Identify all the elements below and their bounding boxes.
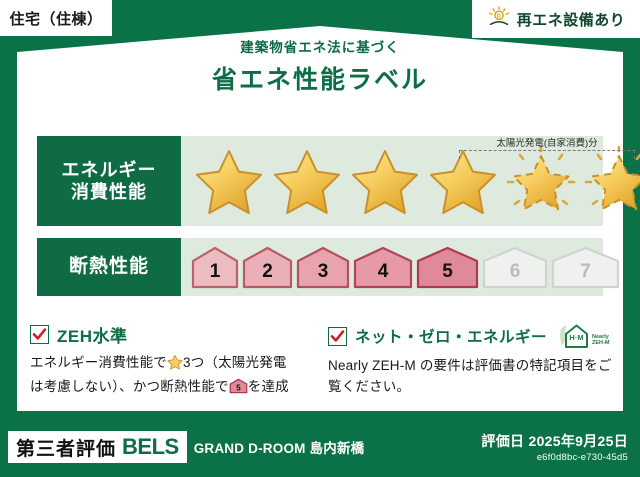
star-icon xyxy=(167,354,183,377)
grade-step-3: 3 xyxy=(296,245,350,289)
check-icon xyxy=(32,327,47,342)
zeh-body-part1: エネルギー消費性能で xyxy=(30,355,167,370)
energy-performance-label: エネルギー 消費性能 xyxy=(37,136,181,226)
insulation-grade-scale: 1 2 3 4 xyxy=(181,245,620,289)
net-zero-energy-heading: ネット・ゼロ・エネルギー H·M Nearly ZEH-M xyxy=(328,322,614,350)
energy-rating-area: 太陽光発電(自家消費)分 xyxy=(181,136,640,226)
energy-performance-row: エネルギー 消費性能 xyxy=(37,136,603,226)
building-type-text: 住宅（住棟） xyxy=(9,8,102,29)
svg-text:H·M: H·M xyxy=(569,333,583,342)
net-zero-energy-body: Nearly ZEH-M の要件は評価書の特記項目をご覧ください。 xyxy=(328,356,614,398)
renewable-energy-badge: D 再エネ設備あり xyxy=(472,0,640,38)
grade-value: 4 xyxy=(378,261,389,289)
grade-step-1: 1 xyxy=(191,245,239,289)
zeh-standard-body: エネルギー消費性能で 3つ（太陽光発電 は考慮しない）、かつ断熱性能で 5 を達… xyxy=(30,353,320,401)
star-icon xyxy=(271,146,343,216)
grade-step-5: 5 xyxy=(416,245,479,289)
svg-text:D: D xyxy=(497,14,501,20)
grade-value: 2 xyxy=(262,261,273,289)
zeh-standard-block: ZEH水準 エネルギー消費性能で 3つ（太陽光発電 は考慮しない）、かつ断熱性能… xyxy=(30,322,320,401)
zeh-standard-title: ZEH水準 xyxy=(57,322,128,347)
star-icon xyxy=(193,146,265,216)
zeh-standard-checkbox[interactable] xyxy=(30,325,49,344)
star-solar-icon xyxy=(583,146,640,216)
insulation-performance-row: 断熱性能 1 2 xyxy=(37,238,603,296)
grade-step-2: 2 xyxy=(242,245,293,289)
zeh-body-part4: を達成 xyxy=(248,379,289,394)
bels-en-text: BELS xyxy=(122,434,179,460)
grade-value: 5 xyxy=(442,261,453,289)
grade-value: 3 xyxy=(318,261,329,289)
net-zero-energy-checkbox[interactable] xyxy=(328,327,347,346)
star-icon xyxy=(349,146,421,216)
energy-performance-label: 住宅（住棟） D 再エネ設備あり 建築物省エネ法に基づく 省エネ性能ラベル xyxy=(0,0,640,477)
grade-step-4: 4 xyxy=(353,245,413,289)
evaluation-id: e6f0d8bc-e730-45d5 xyxy=(481,452,628,463)
property-name: GRAND D-ROOM 島内新橋 xyxy=(194,437,365,457)
grade-step-7: 7 xyxy=(551,245,620,289)
check-icon xyxy=(330,329,345,344)
label-title: 省エネ性能ラベル xyxy=(0,60,640,96)
grade-step-6: 6 xyxy=(482,245,548,289)
zeh-standard-heading: ZEH水準 xyxy=(30,322,320,347)
net-zero-energy-title: ネット・ゼロ・エネルギー xyxy=(355,325,547,347)
evaluation-date: 評価日 2025年9月25日 xyxy=(481,431,628,451)
sun-icon: D xyxy=(487,6,511,32)
star-rating xyxy=(181,146,640,216)
insulation-performance-label: 断熱性能 xyxy=(37,238,181,296)
building-type-tag: 住宅（住棟） xyxy=(0,0,112,36)
footer-bar: 第三者評価 BELS GRAND D-ROOM 島内新橋 評価日 2025年9月… xyxy=(0,417,640,477)
grade-value: 1 xyxy=(210,261,221,289)
insulation-rating-area: 1 2 3 4 xyxy=(181,238,620,296)
label-subtitle: 建築物省エネ法に基づく xyxy=(0,36,640,56)
star-solar-icon xyxy=(505,146,577,216)
renewable-badge-text: 再エネ設備あり xyxy=(517,9,626,30)
insulation-label-text: 断熱性能 xyxy=(69,255,149,279)
grade-value: 7 xyxy=(580,261,591,289)
title-block: 建築物省エネ法に基づく 省エネ性能ラベル xyxy=(0,36,640,96)
bels-badge: 第三者評価 BELS xyxy=(8,431,187,463)
energy-label-line1: エネルギー xyxy=(62,159,157,182)
energy-label-line2: 消費性能 xyxy=(71,181,147,204)
zeh-body-part3: は考慮しない）、かつ断熱性能で xyxy=(30,379,229,394)
bels-jp-text: 第三者評価 xyxy=(16,434,116,461)
net-zero-energy-block: ネット・ゼロ・エネルギー H·M Nearly ZEH-M Nearly ZEH… xyxy=(328,322,614,398)
star-icon xyxy=(427,146,499,216)
svg-text:5: 5 xyxy=(236,383,241,392)
zehm-caption-line2: ZEH-M xyxy=(592,341,609,347)
house-grade-5-icon: 5 xyxy=(229,378,248,401)
nearly-zeh-m-logo: H·M Nearly ZEH-M xyxy=(557,322,609,350)
zeh-body-part2: 3つ（太陽光発電 xyxy=(183,355,287,370)
grade-value: 6 xyxy=(510,261,521,289)
evaluation-info: 評価日 2025年9月25日 e6f0d8bc-e730-45d5 xyxy=(481,431,628,463)
